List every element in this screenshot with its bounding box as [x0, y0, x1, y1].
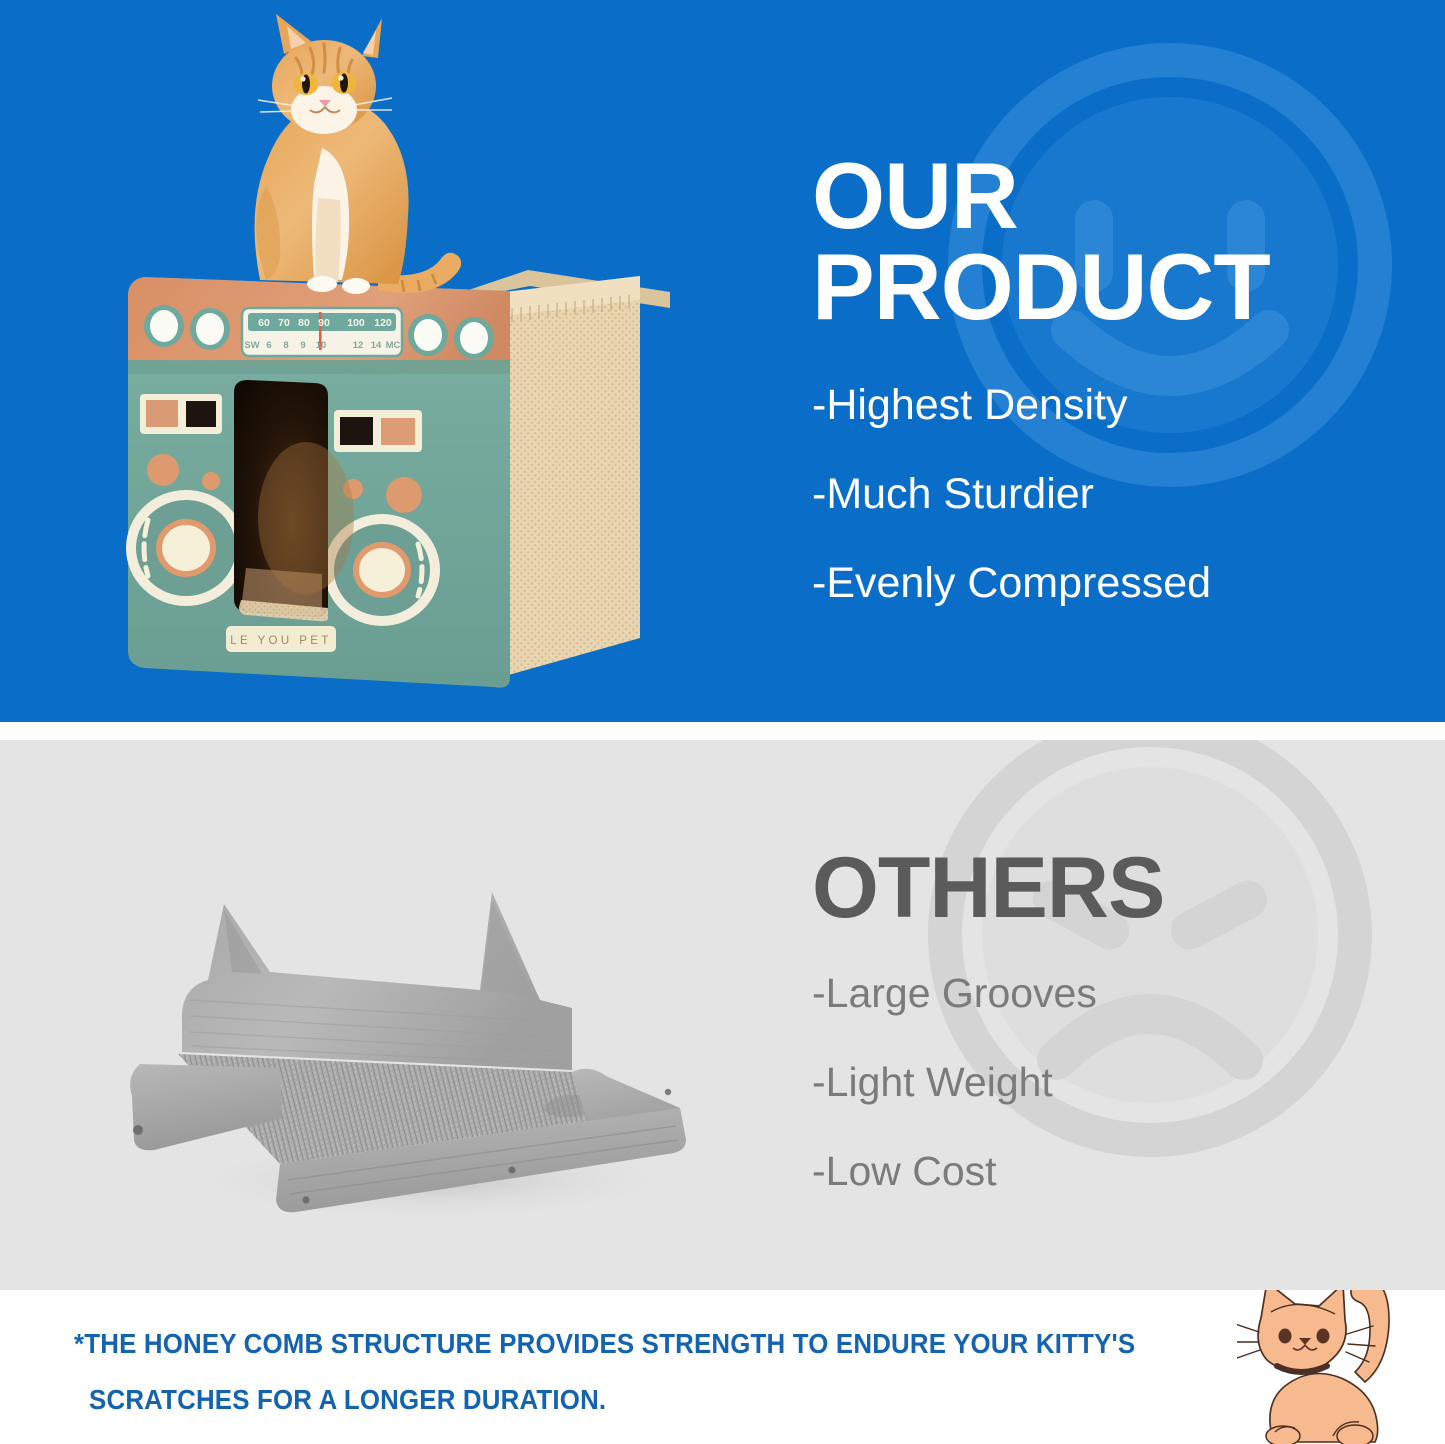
dial-label-14: 14 [371, 340, 382, 351]
our-product-photo: 60 70 80 90 100 120 SW 6 8 9 10 12 14 MC [110, 8, 670, 688]
others-bullet-list: -Large Grooves -Light Weight -Low Cost [812, 973, 1412, 1192]
dial-label-80: 80 [298, 317, 310, 329]
dial-label-100: 100 [347, 317, 365, 329]
our-product-bullet-2: -Much Sturdier [812, 473, 1412, 516]
dial-label-10: 10 [316, 340, 327, 351]
dial-label-120: 120 [374, 317, 392, 329]
others-bullet-3: -Low Cost [812, 1151, 1412, 1192]
footer-section: *THE HONEY COMB STRUCTURE PROVIDES STREN… [0, 1290, 1445, 1444]
our-product-text-column: OUR PRODUCT -Highest Density -Much Sturd… [812, 150, 1412, 651]
others-product-photo [120, 840, 720, 1240]
others-heading: OTHERS [812, 845, 1412, 931]
dial-label-8: 8 [283, 340, 288, 351]
dial-label-90: 90 [318, 317, 330, 329]
brand-label: LE YOU PET [230, 635, 332, 647]
our-product-heading: OUR PRODUCT [812, 150, 1412, 332]
dial-label-9: 9 [300, 340, 305, 351]
cartoon-cat-mascot-icon [1237, 1290, 1437, 1444]
dial-label-12: 12 [353, 340, 364, 351]
footer-note: *THE HONEY COMB STRUCTURE PROVIDES STREN… [74, 1316, 1127, 1429]
cat-photo [255, 14, 462, 294]
dial-label-6: 6 [266, 340, 271, 351]
dial-label-70: 70 [278, 317, 290, 329]
our-product-bullet-3: -Evenly Compressed [812, 562, 1412, 605]
our-product-bullet-list: -Highest Density -Much Sturdier -Evenly … [812, 384, 1412, 605]
our-product-bullet-1: -Highest Density [812, 384, 1412, 427]
dial-label-mc: MC [386, 340, 401, 351]
dial-label-sw: SW [244, 340, 259, 351]
others-section: OTHERS -Large Grooves -Light Weight -Low… [0, 740, 1445, 1290]
dial-label-60: 60 [258, 317, 270, 329]
others-text-column: OTHERS -Large Grooves -Light Weight -Low… [812, 845, 1412, 1240]
footer-note-line-1: *THE HONEY COMB STRUCTURE PROVIDES STREN… [74, 1316, 1127, 1372]
others-bullet-1: -Large Grooves [812, 973, 1412, 1014]
footer-note-line-2: SCRATCHES FOR A LONGER DURATION. [74, 1372, 1127, 1428]
our-product-section: 60 70 80 90 100 120 SW 6 8 9 10 12 14 MC [0, 0, 1445, 722]
others-bullet-2: -Light Weight [812, 1062, 1412, 1103]
